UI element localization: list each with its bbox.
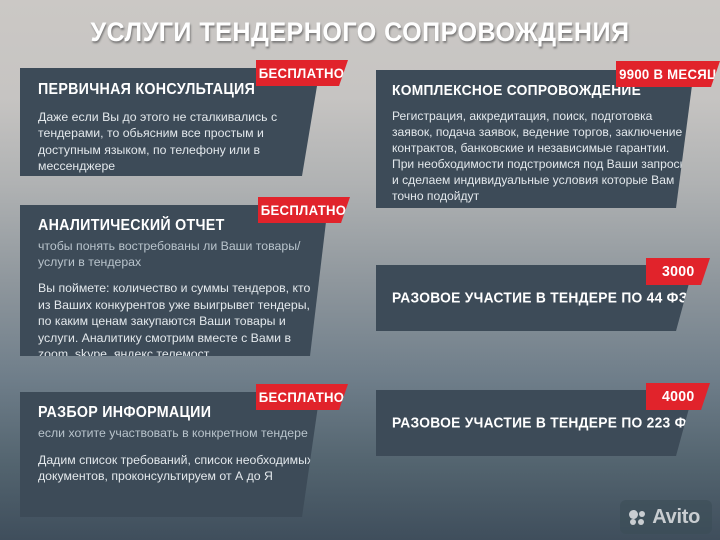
badge-fold-shape [341,223,351,230]
poster-canvas: УСЛУГИ ТЕНДЕРНОГО СОПРОВОЖДЕНИЯ ПЕРВИЧНА… [0,0,720,540]
badge-free-analytics: БЕСПЛАТНО [258,197,350,223]
card-analytic-report[interactable]: АНАЛИТИЧЕСКИЙ ОТЧЕТ чтобы понять востреб… [20,205,328,356]
card-heading: РАЗБОР ИНФОРМАЦИИ [38,404,283,422]
badge-label: 9900 В МЕСЯЦ [619,66,717,82]
badge-fold-shape [339,410,349,417]
card-subtitle: если хотите участвовать в конкретном тен… [38,426,310,442]
badge-free-review: БЕСПЛАТНО [256,384,348,410]
badge-label: 4000 [662,388,695,405]
badge-label: БЕСПЛАТНО [261,202,347,218]
card-body-text: Дадим список требований, список необходи… [38,452,316,485]
badge-price-monthly: 9900 В МЕСЯЦ [616,61,720,87]
card-body-text: Даже если Вы до этого не сталкивались с … [38,109,316,174]
page-title: УСЛУГИ ТЕНДЕРНОГО СОПРОВОЖДЕНИЯ [25,17,695,48]
badge-fold-shape [339,86,349,93]
avito-brand-label: Avito [652,507,700,527]
badge-price-4000: 4000 [646,383,710,410]
card-heading: ПЕРВИЧНАЯ КОНСУЛЬТАЦИЯ [38,81,283,99]
avito-dots-logo-icon [629,510,646,525]
card-subtitle: чтобы понять востребованы ли Ваши товары… [38,239,318,270]
avito-watermark: Avito [620,500,712,534]
card-body-text: Регистрация, аккредитация, поиск, подгот… [392,108,692,204]
card-body-text: Вы поймете: количество и суммы тендеров,… [38,280,326,362]
card-heading: АНАЛИТИЧЕСКИЙ ОТЧЕТ [38,217,290,235]
card-heading: РАЗОВОЕ УЧАСТИЕ В ТЕНДЕРЕ ПО 223 ФЗ [392,415,696,432]
card-complex-support[interactable]: КОМПЛЕКСНОЕ СОПРОВОЖДЕНИЕ Регистрация, а… [376,70,694,208]
badge-label: БЕСПЛАТНО [259,65,345,81]
badge-label: БЕСПЛАТНО [259,389,345,405]
badge-free-consultation: БЕСПЛАТНО [256,60,348,86]
badge-price-3000: 3000 [646,258,710,285]
badge-label: 3000 [662,263,695,280]
card-heading: РАЗОВОЕ УЧАСТИЕ В ТЕНДЕРЕ ПО 44 ФЗ [392,290,688,307]
card-information-review[interactable]: РАЗБОР ИНФОРМАЦИИ если хотите участвоват… [20,392,320,517]
